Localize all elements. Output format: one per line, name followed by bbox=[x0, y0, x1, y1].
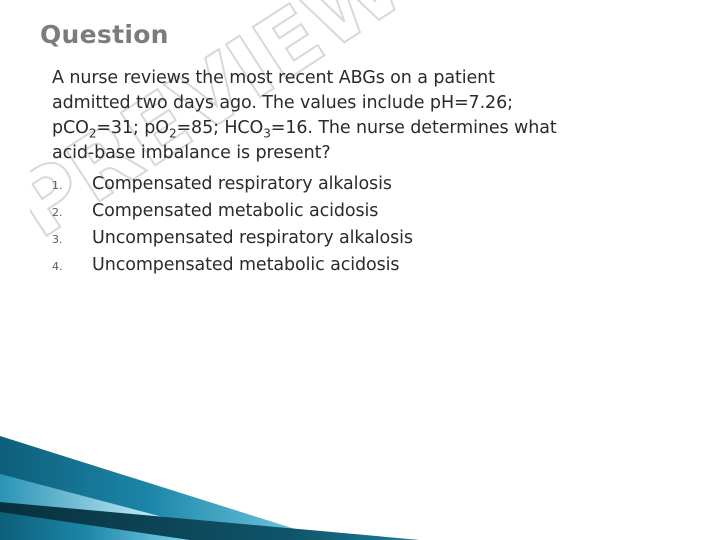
list-item[interactable]: 1. Compensated respiratory alkalosis bbox=[52, 172, 682, 196]
slide: PREVIEW Question A nurse reviews the mos… bbox=[0, 0, 720, 540]
option-number: 1. bbox=[52, 179, 92, 192]
option-label: Compensated metabolic acidosis bbox=[92, 199, 378, 223]
stem-sub-3: 3 bbox=[263, 127, 271, 141]
stem-line-2: admitted two days ago. The values includ… bbox=[52, 93, 513, 113]
option-number: 2. bbox=[52, 206, 92, 219]
stem-line-3c: =85; HCO bbox=[176, 118, 263, 138]
stem-line-3d: =16. The nurse determines what bbox=[271, 118, 557, 138]
option-number: 4. bbox=[52, 260, 92, 273]
slide-footer-decoration bbox=[0, 430, 720, 540]
option-label: Uncompensated metabolic acidosis bbox=[92, 253, 399, 277]
list-item[interactable]: 2. Compensated metabolic acidosis bbox=[52, 199, 682, 223]
option-number: 3. bbox=[52, 233, 92, 246]
option-label: Compensated respiratory alkalosis bbox=[92, 172, 392, 196]
page-title: Question bbox=[40, 20, 169, 49]
stem-line-4: acid-base imbalance is present? bbox=[52, 143, 331, 163]
stem-line-3a: pCO bbox=[52, 118, 89, 138]
list-item[interactable]: 4. Uncompensated metabolic acidosis bbox=[52, 253, 682, 277]
stem-line-3b: =31; pO bbox=[96, 118, 169, 138]
list-item[interactable]: 3. Uncompensated respiratory alkalosis bbox=[52, 226, 682, 250]
question-body: A nurse reviews the most recent ABGs on … bbox=[52, 66, 682, 280]
stem-line-1: A nurse reviews the most recent ABGs on … bbox=[52, 68, 495, 88]
answer-options-list: 1. Compensated respiratory alkalosis 2. … bbox=[52, 172, 682, 277]
option-label: Uncompensated respiratory alkalosis bbox=[92, 226, 413, 250]
question-stem: A nurse reviews the most recent ABGs on … bbox=[52, 66, 682, 166]
